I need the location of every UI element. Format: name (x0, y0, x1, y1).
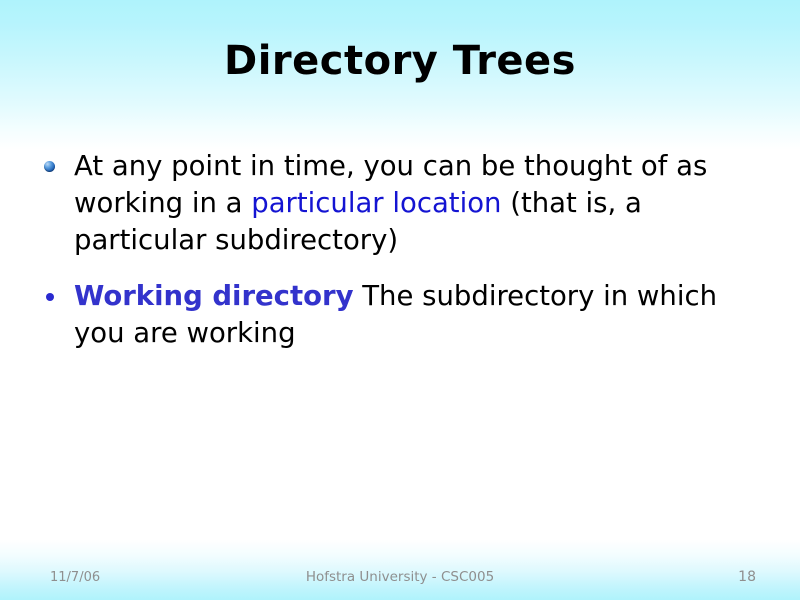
blue-dot-bullet-icon (46, 293, 54, 301)
slide-footer: 11/7/06 Hofstra University - CSC005 18 (0, 566, 800, 592)
bullet-segment-highlight: particular location (251, 187, 501, 219)
slide-body: At any point in time, you can be thought… (40, 148, 760, 352)
bullet-text: Working directory The subdirectory in wh… (74, 280, 717, 349)
blue-sphere-bullet-icon (44, 161, 55, 172)
slide-title: Directory Trees (0, 38, 800, 84)
footer-page-number: 18 (738, 569, 756, 585)
bullet-segment-term: Working directory (74, 280, 354, 312)
bullet-item: Working directory The subdirectory in wh… (40, 278, 760, 352)
bullet-item: At any point in time, you can be thought… (40, 148, 760, 259)
bullet-text: At any point in time, you can be thought… (74, 150, 707, 256)
slide-canvas: Directory Trees At any point in time, yo… (0, 0, 800, 600)
footer-course-label: Hofstra University - CSC005 (0, 569, 800, 585)
